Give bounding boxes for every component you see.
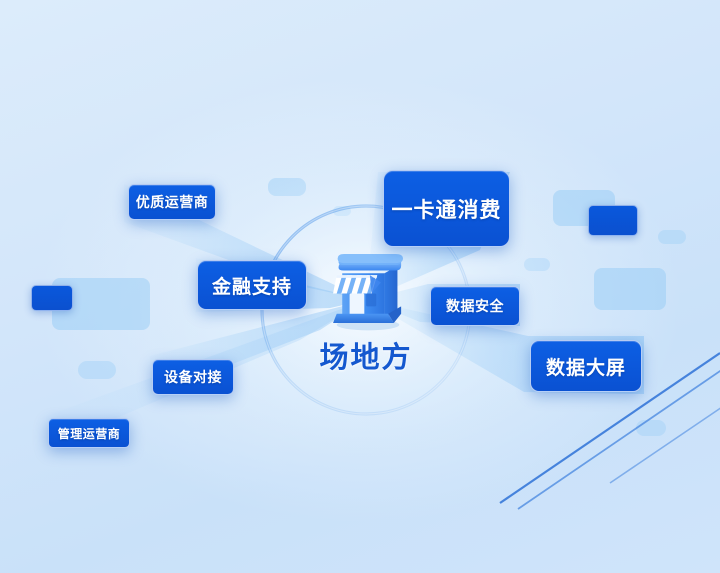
card-label: 数据安全 bbox=[446, 296, 504, 316]
card-label: 优质运营商 bbox=[136, 192, 209, 212]
shop-storefront-icon bbox=[322, 242, 414, 334]
awning bbox=[333, 275, 381, 293]
card-shujuanquan[interactable]: 数据安全 bbox=[430, 286, 520, 326]
card-label: 设备对接 bbox=[164, 367, 222, 387]
center-node[interactable]: 场地方 bbox=[286, 236, 446, 376]
card-label: 一卡通消费 bbox=[392, 194, 502, 224]
card-youzhiyunyingshang[interactable]: 优质运营商 bbox=[128, 184, 216, 220]
card-yikatong[interactable]: 一卡通消费 bbox=[383, 170, 510, 247]
infographic-canvas: 场地方 一卡通消费 数据大屏 金融支持 数据安全 优质运营商 设备对接 管理运营… bbox=[0, 0, 720, 573]
card-guanliyunyingshang[interactable]: 管理运营商 bbox=[48, 418, 130, 448]
card-label: 管理运营商 bbox=[58, 425, 121, 442]
card-label: 金融支持 bbox=[212, 272, 292, 299]
card-jinrongzhichi[interactable]: 金融支持 bbox=[197, 260, 307, 310]
card-shebeiduijie[interactable]: 设备对接 bbox=[152, 359, 234, 395]
center-label: 场地方 bbox=[286, 334, 446, 376]
card-label: 数据大屏 bbox=[546, 353, 626, 380]
card-shujudaping[interactable]: 数据大屏 bbox=[530, 340, 642, 392]
